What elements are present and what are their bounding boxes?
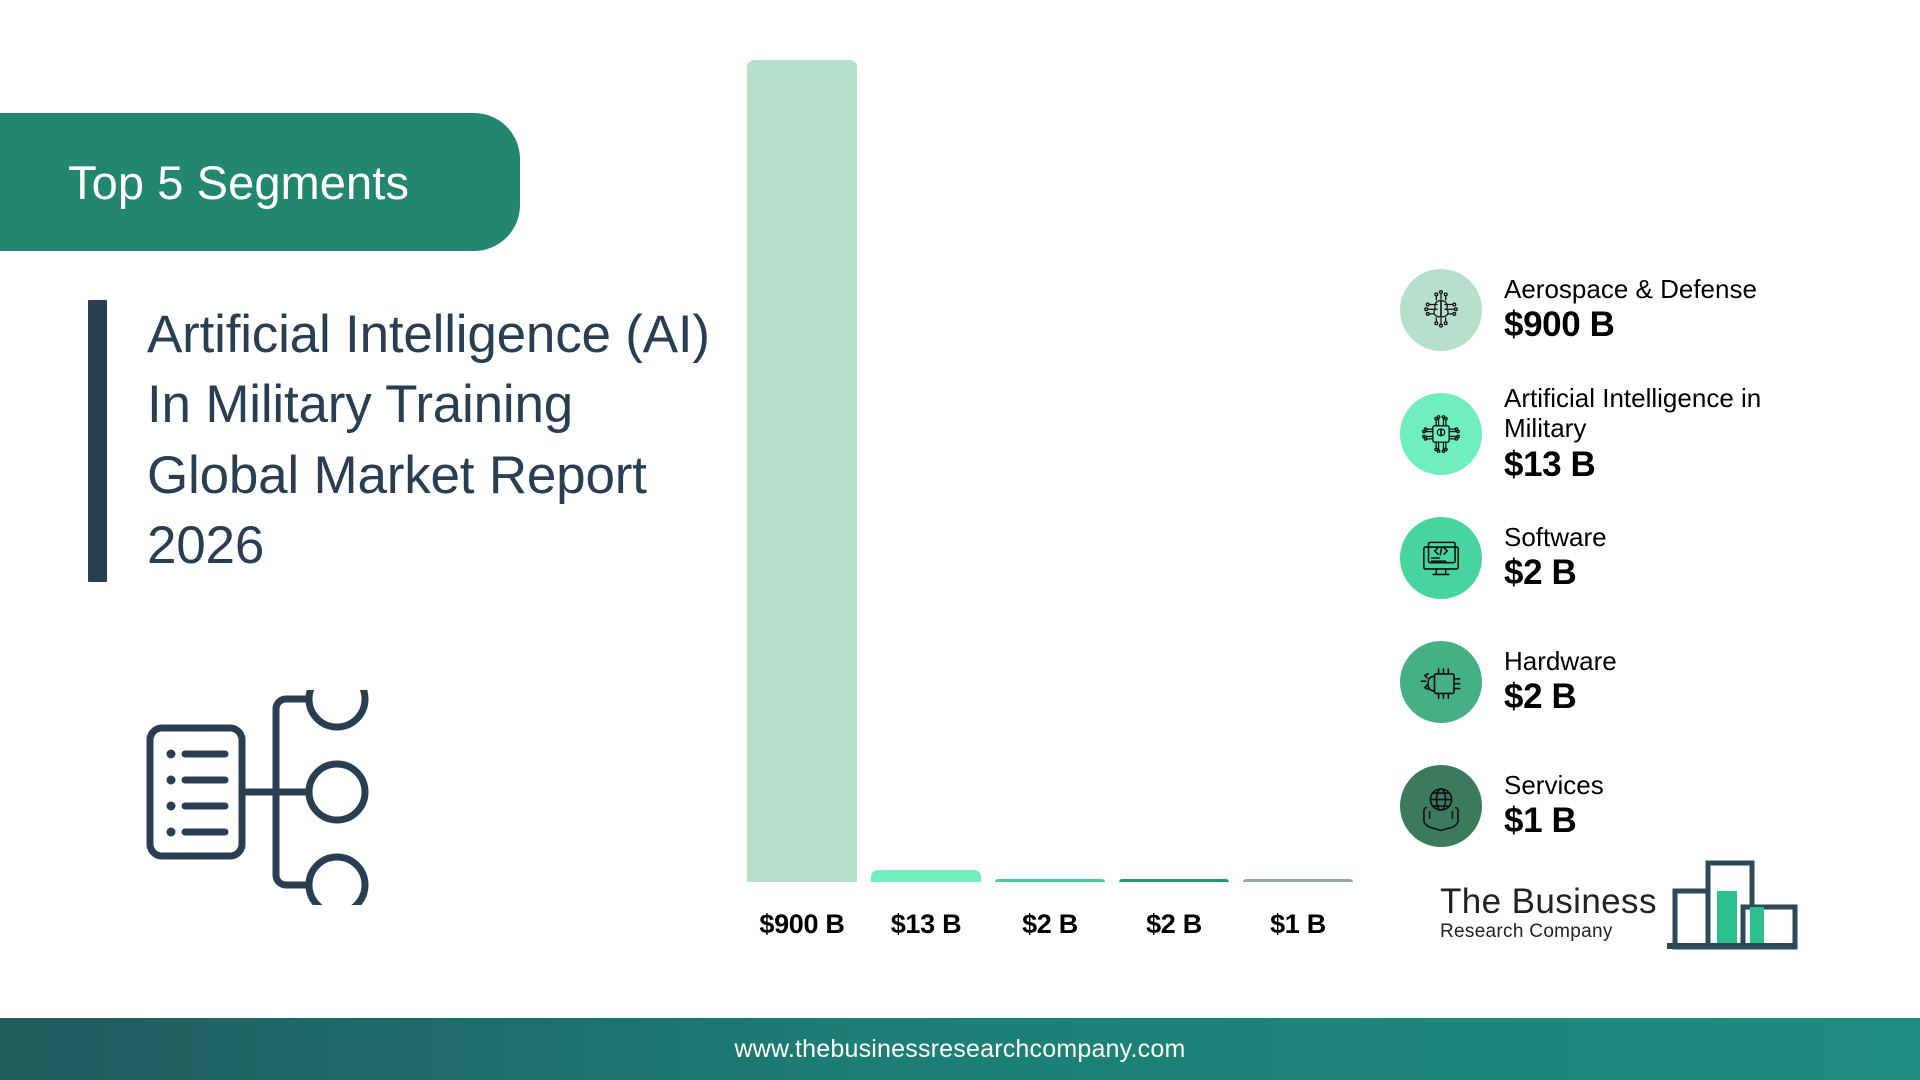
segments-badge: Top 5 Segments [0, 113, 520, 251]
legend-item-label: Services [1504, 770, 1604, 800]
left-panel: Top 5 Segments Artificial Intelligence (… [0, 0, 780, 1020]
cpu-gear-icon [1400, 641, 1482, 723]
logo-bars-icon [1653, 855, 1801, 956]
logo-text: The Business Research Company [1440, 884, 1657, 956]
bar-chart: $900 B$13 B$2 B$2 B$1 B [740, 60, 1360, 940]
report-title-block: Artificial Intelligence (AI) In Military… [88, 300, 728, 582]
code-monitor-icon [1400, 517, 1482, 599]
legend-text: Aerospace & Defense$900 B [1504, 274, 1757, 345]
legend-item[interactable]: Services$1 B [1400, 744, 1870, 868]
legend-item[interactable]: Aerospace & Defense$900 B [1400, 248, 1870, 372]
legend-item-label: Aerospace & Defense [1504, 274, 1757, 304]
legend-item[interactable]: Artificial Intelligence in Military$13 B [1400, 372, 1870, 496]
chart-bar [871, 870, 980, 882]
legend-item[interactable]: Hardware$2 B [1400, 620, 1870, 744]
chart-x-axis-labels: $900 B$13 B$2 B$2 B$1 B [740, 909, 1360, 940]
chart-bar-slot [1236, 60, 1360, 882]
brain-circuit-icon [1400, 269, 1482, 351]
legend-item-value: $13 B [1504, 444, 1804, 485]
chart-bar [747, 60, 856, 882]
chart-x-label: $2 B [988, 909, 1112, 940]
legend-item[interactable]: Software$2 B [1400, 496, 1870, 620]
chart-x-label: $1 B [1236, 909, 1360, 940]
logo-line-primary: The Business [1440, 884, 1657, 919]
logo-line-secondary: Research Company [1440, 919, 1657, 946]
segment-legend: Aerospace & Defense$900 B Artificial Int… [1400, 248, 1870, 868]
footer-url: www.thebusinessresearchcompany.com [735, 1035, 1186, 1064]
chart-x-label: $900 B [740, 909, 864, 940]
chart-bar-slot [740, 60, 864, 882]
legend-text: Services$1 B [1504, 770, 1604, 841]
chart-bar-slot [988, 60, 1112, 882]
page-title: Artificial Intelligence (AI) In Military… [147, 300, 728, 582]
chart-bar [995, 879, 1104, 882]
legend-text: Software$2 B [1504, 522, 1607, 593]
chart-bar [1243, 879, 1352, 882]
segmentation-tree-icon [145, 690, 375, 910]
legend-item-value: $1 B [1504, 800, 1604, 841]
chart-bar-slot [1112, 60, 1236, 882]
chart-bar-slot [864, 60, 988, 882]
title-accent-bar [88, 300, 107, 582]
legend-text: Artificial Intelligence in Military$13 B [1504, 383, 1804, 485]
legend-item-label: Artificial Intelligence in Military [1504, 383, 1804, 443]
segments-badge-label: Top 5 Segments [0, 155, 409, 210]
legend-item-value: $2 B [1504, 552, 1607, 593]
globe-hands-icon [1400, 765, 1482, 847]
legend-item-value: $2 B [1504, 676, 1617, 717]
legend-item-label: Hardware [1504, 646, 1617, 676]
company-logo: The Business Research Company [1440, 855, 1801, 956]
chart-bars [740, 60, 1360, 882]
legend-item-value: $900 B [1504, 304, 1757, 345]
legend-text: Hardware$2 B [1504, 646, 1617, 717]
chart-x-label: $13 B [864, 909, 988, 940]
legend-item-label: Software [1504, 522, 1607, 552]
ai-chip-brain-icon [1400, 393, 1482, 475]
footer-bar: www.thebusinessresearchcompany.com [0, 1018, 1920, 1080]
chart-bar [1119, 879, 1228, 882]
chart-x-label: $2 B [1112, 909, 1236, 940]
